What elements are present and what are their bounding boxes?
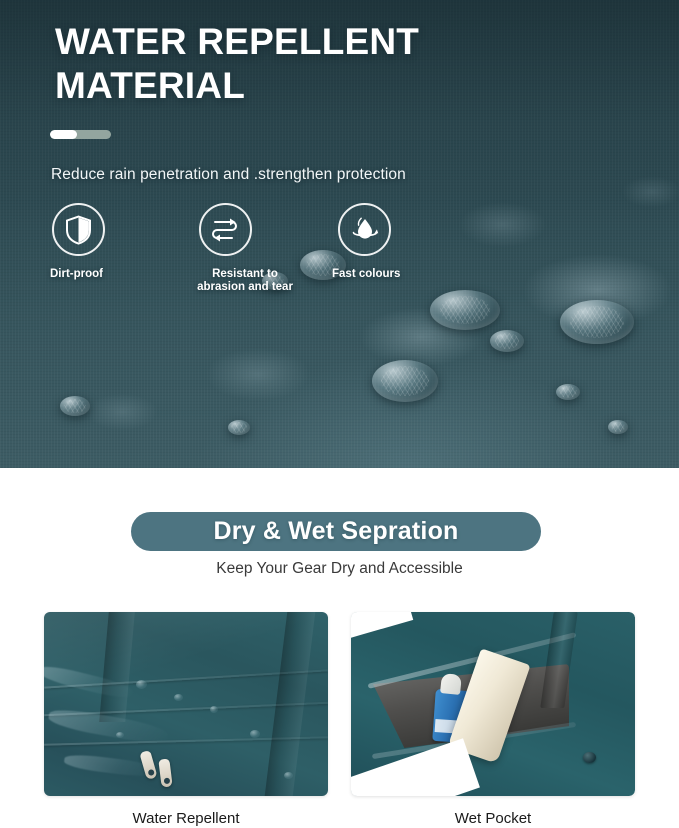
headline-line-2: MATERIAL bbox=[55, 65, 245, 106]
feature-abrasion-resistant: Resistant to abrasion and tear bbox=[185, 203, 325, 295]
product-photo-wet-fabric bbox=[44, 612, 328, 796]
section-title-banner: Dry & Wet Sepration bbox=[131, 512, 541, 551]
metal-stud bbox=[583, 752, 596, 763]
photo-caption: Water Repellent bbox=[44, 810, 328, 827]
accent-progress-bar bbox=[50, 130, 111, 139]
water-droplet bbox=[250, 730, 260, 738]
section-title-text: Dry & Wet Sepration bbox=[213, 517, 458, 546]
water-droplet bbox=[174, 694, 183, 701]
water-droplet bbox=[284, 772, 293, 779]
section-subtitle: Keep Your Gear Dry and Accessible bbox=[0, 560, 679, 578]
page-title: WATER REPELLENT MATERIAL bbox=[55, 20, 419, 108]
zigzag-arrows-icon bbox=[199, 203, 252, 256]
feature-fast-colours: Fast colours bbox=[328, 203, 468, 281]
dry-wet-separation-section: Dry & Wet Sepration Keep Your Gear Dry a… bbox=[0, 468, 679, 828]
feature-label: Resistant to abrasion and tear bbox=[185, 268, 305, 295]
feature-label: Dirt-proof bbox=[50, 268, 188, 281]
feature-dirt-proof: Dirt-proof bbox=[48, 203, 188, 281]
accent-progress-fill bbox=[50, 130, 77, 139]
feature-label-line-1: Resistant to bbox=[212, 268, 278, 280]
water-droplet bbox=[136, 680, 147, 689]
water-droplet bbox=[116, 732, 124, 738]
photo-card-wet-pocket: Wet Pocket bbox=[351, 612, 635, 796]
pocket-photo-backdrop bbox=[351, 612, 635, 796]
feature-label: Fast colours bbox=[332, 268, 468, 281]
photo-card-water-repellent: Water Repellent bbox=[44, 612, 328, 796]
water-repellent-hero-section: WATER REPELLENT MATERIAL Reduce rain pen… bbox=[0, 0, 679, 468]
feature-label-line-2: abrasion and tear bbox=[197, 281, 293, 293]
product-photo-cards: Water Repellent Wet bbox=[0, 612, 679, 828]
product-photo-wet-pocket bbox=[351, 612, 635, 796]
water-droplet-rotate-icon bbox=[338, 203, 391, 256]
headline-line-1: WATER REPELLENT bbox=[55, 21, 419, 62]
water-droplet bbox=[210, 706, 218, 713]
hero-subheadline: Reduce rain penetration and .strengthen … bbox=[51, 166, 406, 184]
photo-caption: Wet Pocket bbox=[351, 810, 635, 827]
shield-icon bbox=[52, 203, 105, 256]
bottle-cap bbox=[440, 673, 462, 695]
